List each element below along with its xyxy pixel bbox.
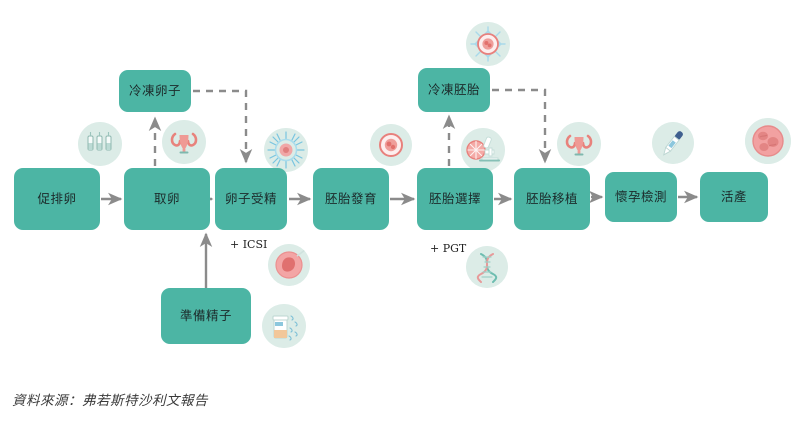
node-egg-retrieval[interactable]: 取卵 xyxy=(124,168,210,230)
node-embryo-development[interactable]: 胚胎發育 xyxy=(313,168,389,230)
sperm-egg-icon xyxy=(264,128,308,172)
node-pregnancy-test[interactable]: 懷孕檢測 xyxy=(605,172,677,222)
node-embryo-freezing[interactable]: 冷凍胚胎 xyxy=(418,68,490,112)
pregnancy-pipette-icon xyxy=(652,122,694,164)
ivf-process-flowchart: 浙江宁波联 公司清单 xyxy=(0,0,807,426)
node-label: 冷凍卵子 xyxy=(129,83,181,99)
uterus-icon xyxy=(162,120,206,164)
frozen-embryo-icon xyxy=(466,22,510,66)
node-label: 卵子受精 xyxy=(225,191,277,207)
node-live-birth[interactable]: 活產 xyxy=(700,172,768,222)
node-ovulation-induction[interactable]: 促排卵 xyxy=(14,168,100,230)
source-footnote: 資料來源：弗若斯特沙利文報告 xyxy=(12,389,208,409)
dna-helix-icon xyxy=(466,246,508,288)
node-label: 懷孕檢測 xyxy=(615,189,667,205)
node-sperm-preparation[interactable]: 準備精子 xyxy=(161,288,251,344)
node-label: 胚胎選擇 xyxy=(429,191,481,207)
node-label: 冷凍胚胎 xyxy=(428,82,480,98)
node-embryo-selection[interactable]: 胚胎選擇 xyxy=(417,168,493,230)
node-label: 準備精子 xyxy=(180,308,232,324)
node-egg-freezing[interactable]: 冷凍卵子 xyxy=(119,70,191,112)
node-label: 取卵 xyxy=(154,191,180,207)
blastocyst-icon xyxy=(268,244,310,286)
flow-arrows-layer xyxy=(0,0,807,426)
newborn-baby-icon xyxy=(745,118,791,164)
icsi-annotation-text: + ICSI xyxy=(230,238,267,251)
uterus-icon xyxy=(557,122,601,166)
icsi-annotation: + ICSI xyxy=(230,238,267,251)
embryo-cell-icon xyxy=(370,124,412,166)
pgt-annotation-text: + PGT xyxy=(430,242,466,255)
node-label: 活產 xyxy=(721,189,747,205)
node-label: 促排卵 xyxy=(37,191,76,207)
node-label: 胚胎移植 xyxy=(526,191,578,207)
syringe-vials-icon xyxy=(78,122,122,166)
node-label: 胚胎發育 xyxy=(325,191,377,207)
semen-sample-icon xyxy=(262,304,306,348)
microscope-icon xyxy=(461,128,505,172)
node-embryo-transfer[interactable]: 胚胎移植 xyxy=(514,168,590,230)
node-fertilization[interactable]: 卵子受精 xyxy=(215,168,287,230)
pgt-annotation: + PGT xyxy=(430,242,466,255)
